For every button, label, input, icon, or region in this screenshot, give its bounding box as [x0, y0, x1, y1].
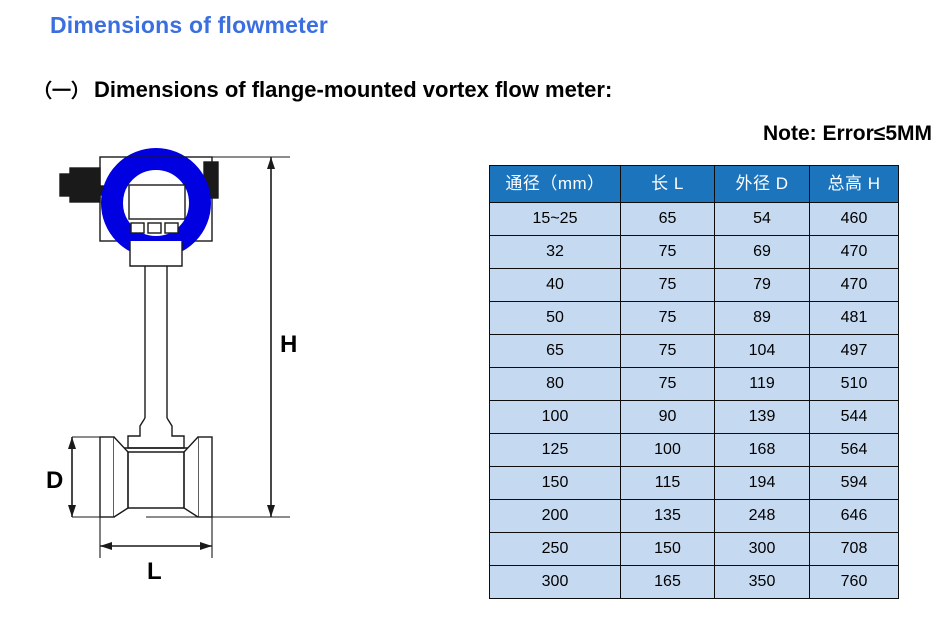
cell-length: 135 [621, 500, 715, 533]
cell-total-height: 470 [810, 269, 899, 302]
cell-outer-diameter: 194 [715, 467, 810, 500]
cell-total-height: 497 [810, 335, 899, 368]
cell-outer-diameter: 248 [715, 500, 810, 533]
cell-total-height: 481 [810, 302, 899, 335]
cell-length: 100 [621, 434, 715, 467]
column-header-outer-diameter: 外径 D [715, 166, 810, 203]
cell-outer-diameter: 300 [715, 533, 810, 566]
meter-body [100, 437, 212, 517]
cable-connector-left [60, 168, 104, 202]
dimension-label-h: H [280, 331, 297, 358]
cell-outer-diameter: 69 [715, 236, 810, 269]
cell-bore: 32 [490, 236, 621, 269]
cell-length: 90 [621, 401, 715, 434]
table-row: 327569470 [490, 236, 899, 269]
cell-total-height: 594 [810, 467, 899, 500]
cell-length: 75 [621, 236, 715, 269]
cell-length: 75 [621, 302, 715, 335]
cell-total-height: 460 [810, 203, 899, 236]
table-row: 200135248646 [490, 500, 899, 533]
table-row: 6575104497 [490, 335, 899, 368]
table-row: 15~256554460 [490, 203, 899, 236]
flowmeter-drawing: H D L [28, 140, 328, 600]
transmitter-neck [130, 241, 182, 266]
column-header-total-height: 总高 H [810, 166, 899, 203]
cell-total-height: 564 [810, 434, 899, 467]
section-heading-label: Dimensions of flange-mounted vortex flow… [94, 77, 612, 103]
cell-total-height: 708 [810, 533, 899, 566]
page-title: Dimensions of flowmeter [50, 12, 328, 39]
table-row: 150115194594 [490, 467, 899, 500]
cell-outer-diameter: 168 [715, 434, 810, 467]
cell-outer-diameter: 119 [715, 368, 810, 401]
keypad-buttons [131, 223, 178, 233]
dimension-line-h [267, 157, 275, 517]
error-note: Note: Error≤5MM [763, 122, 932, 146]
riser-stem [145, 266, 167, 418]
cell-outer-diameter: 89 [715, 302, 810, 335]
table-row: 125100168564 [490, 434, 899, 467]
column-header-length: 长 L [621, 166, 715, 203]
cell-bore: 50 [490, 302, 621, 335]
cell-total-height: 510 [810, 368, 899, 401]
cell-bore: 65 [490, 335, 621, 368]
cell-length: 75 [621, 269, 715, 302]
table-header-row: 通径（mm） 长 L 外径 D 总高 H [490, 166, 899, 203]
section-marker: （一） [33, 76, 90, 103]
section-heading: （一） Dimensions of flange-mounted vortex … [33, 76, 612, 103]
cell-bore: 40 [490, 269, 621, 302]
table-row: 8075119510 [490, 368, 899, 401]
stem-to-body-transition [128, 418, 184, 448]
cell-outer-diameter: 104 [715, 335, 810, 368]
cell-total-height: 470 [810, 236, 899, 269]
cell-length: 115 [621, 467, 715, 500]
column-header-bore: 通径（mm） [490, 166, 621, 203]
table-body: 15~2565544603275694704075794705075894816… [490, 203, 899, 599]
cell-outer-diameter: 79 [715, 269, 810, 302]
cell-length: 65 [621, 203, 715, 236]
dimension-line-l [100, 542, 212, 550]
cell-bore: 150 [490, 467, 621, 500]
cell-outer-diameter: 139 [715, 401, 810, 434]
cell-bore: 250 [490, 533, 621, 566]
table-row: 300165350760 [490, 566, 899, 599]
cell-length: 75 [621, 368, 715, 401]
cell-bore: 80 [490, 368, 621, 401]
cell-length: 165 [621, 566, 715, 599]
table-row: 507589481 [490, 302, 899, 335]
dimension-label-l: L [147, 558, 162, 585]
cell-total-height: 646 [810, 500, 899, 533]
cell-bore: 200 [490, 500, 621, 533]
dimension-label-d: D [46, 467, 63, 494]
cell-length: 150 [621, 533, 715, 566]
dimensions-table: 通径（mm） 长 L 外径 D 总高 H 15~2565544603275694… [489, 165, 899, 599]
dimensions-table-container: 通径（mm） 长 L 外径 D 总高 H 15~2565544603275694… [489, 165, 898, 599]
cell-bore: 100 [490, 401, 621, 434]
table-row: 407579470 [490, 269, 899, 302]
cell-outer-diameter: 54 [715, 203, 810, 236]
dimension-line-d [68, 437, 76, 517]
cell-bore: 15~25 [490, 203, 621, 236]
cell-total-height: 544 [810, 401, 899, 434]
cell-bore: 125 [490, 434, 621, 467]
table-row: 250150300708 [490, 533, 899, 566]
lcd-display [129, 185, 185, 219]
cell-outer-diameter: 350 [715, 566, 810, 599]
cell-bore: 300 [490, 566, 621, 599]
table-row: 10090139544 [490, 401, 899, 434]
cell-total-height: 760 [810, 566, 899, 599]
cell-length: 75 [621, 335, 715, 368]
